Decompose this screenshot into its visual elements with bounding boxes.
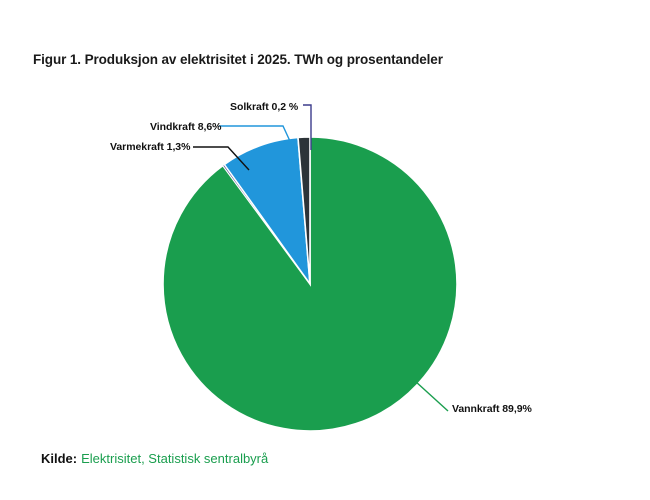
leader-line-vannkraft bbox=[415, 381, 448, 411]
source-line: Kilde:Elektrisitet, Statistisk sentralby… bbox=[41, 451, 268, 466]
slice-label-solkraft: Solkraft 0,2 % bbox=[230, 101, 298, 113]
source-link[interactable]: Elektrisitet, Statistisk sentralbyrå bbox=[81, 451, 268, 466]
slice-label-varmekraft: Varmekraft 1,3% bbox=[110, 141, 190, 153]
pie-chart-svg bbox=[0, 0, 650, 500]
slice-label-vannkraft: Vannkraft 89,9% bbox=[452, 403, 532, 415]
figure-container: Figur 1. Produksjon av elektrisitet i 20… bbox=[0, 0, 650, 500]
source-label: Kilde: bbox=[41, 451, 77, 466]
slice-label-vindkraft: Vindkraft 8,6% bbox=[150, 121, 221, 133]
